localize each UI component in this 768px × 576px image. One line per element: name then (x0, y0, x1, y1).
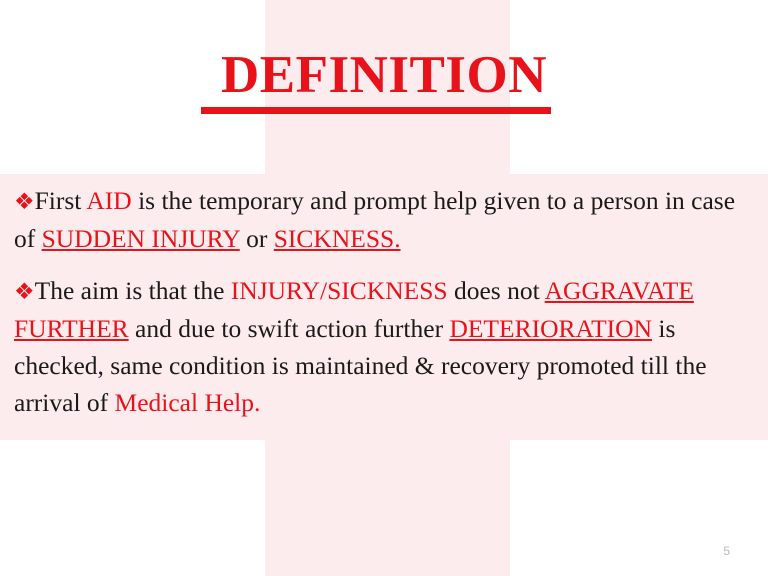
diamond-bullet-icon: ❖ (14, 279, 35, 304)
slide-canvas: DEFINITION ❖First AID is the temporary a… (0, 0, 768, 576)
bullet-paragraph: ❖The aim is that the INJURY/SICKNESS doe… (14, 272, 756, 421)
text-run: AID (86, 186, 131, 215)
diamond-bullet-icon: ❖ (14, 189, 35, 214)
text-run: First (35, 186, 87, 215)
page-number: 5 (723, 544, 730, 558)
slide-title-container: DEFINITION (0, 48, 768, 104)
text-run: DETERIORATION (449, 314, 652, 343)
text-run: and due to swift action further (129, 314, 450, 343)
text-run: Medical Help. (115, 388, 261, 417)
slide-body: ❖First AID is the temporary and prompt h… (14, 182, 756, 421)
slide-title: DEFINITION (221, 48, 547, 104)
text-run: SICKNESS. (274, 224, 401, 253)
text-run: or (240, 224, 274, 253)
text-run: does not (448, 276, 545, 305)
text-run: INJURY/SICKNESS (231, 276, 448, 305)
text-run: SUDDEN INJURY (42, 224, 240, 253)
bullet-paragraph: ❖First AID is the temporary and prompt h… (14, 182, 756, 257)
title-underline-rule (201, 107, 551, 114)
text-run: The aim is that the (35, 276, 231, 305)
